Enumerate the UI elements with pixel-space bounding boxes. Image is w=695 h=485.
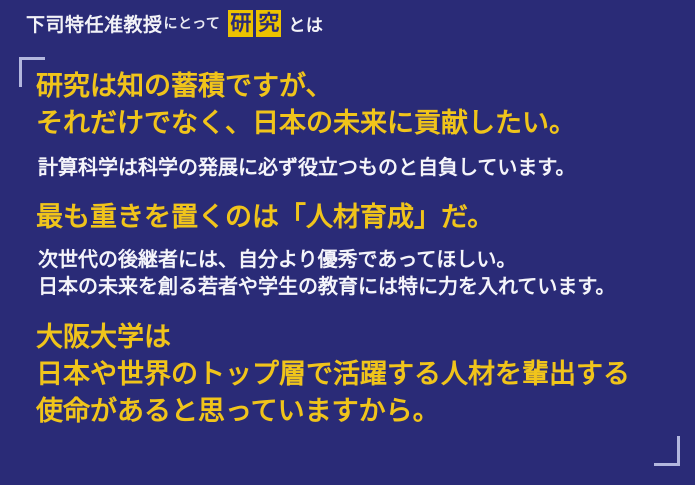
- quote-line: それだけでなく、日本の未来に貢献したい。: [36, 105, 675, 142]
- header-person-title: 下司特任准教授: [26, 10, 163, 37]
- quote-line: 日本の未来を創る若者や学生の教育には特に力を入れています。: [38, 274, 675, 301]
- quote-line: 最も重きを置くのは「人材育成」だ。: [36, 199, 675, 236]
- quote-line: 日本や世界のトップ層で活躍する人材を輩出する: [36, 356, 675, 393]
- quote-close-bracket-icon: [654, 436, 680, 466]
- quote-line: 次世代の後継者には、自分より優秀であってほしい。: [38, 247, 675, 274]
- quote-line: 大阪大学は: [36, 319, 675, 356]
- interview-quote-panel: 下司特任准教授 にとって 研 究 とは 研究は知の蓄積ですが、 それだけでなく、…: [0, 0, 695, 485]
- quote-block-e: 大阪大学は 日本や世界のトップ層で活躍する人材を輩出する 使命があると思っていま…: [36, 319, 675, 430]
- header-tail: とは: [288, 11, 323, 36]
- header-caption: 下司特任准教授 にとって 研 究 とは: [26, 8, 323, 38]
- quote-line: 研究は知の蓄積ですが、: [36, 68, 675, 105]
- quote-block-a: 研究は知の蓄積ですが、 それだけでなく、日本の未来に貢献したい。: [36, 68, 675, 142]
- quote-line: 使命があると思っていますから。: [36, 393, 675, 430]
- header-particle: にとって: [164, 13, 221, 33]
- keyword-box-char-2: 究: [256, 10, 281, 37]
- keyword-box-char-1: 研: [228, 10, 253, 37]
- quote-block-b: 計算科学は科学の発展に必ず役立つものと自負しています。: [36, 155, 675, 182]
- quote-line: 計算科学は科学の発展に必ず役立つものと自負しています。: [38, 155, 675, 182]
- quote-body: 研究は知の蓄積ですが、 それだけでなく、日本の未来に貢献したい。 計算科学は科学…: [36, 68, 675, 430]
- quote-block-d: 次世代の後継者には、自分より優秀であってほしい。 日本の未来を創る若者や学生の教…: [36, 247, 675, 301]
- quote-block-c: 最も重きを置くのは「人材育成」だ。: [36, 199, 675, 236]
- header-keyword-boxes: 研 究: [228, 10, 281, 37]
